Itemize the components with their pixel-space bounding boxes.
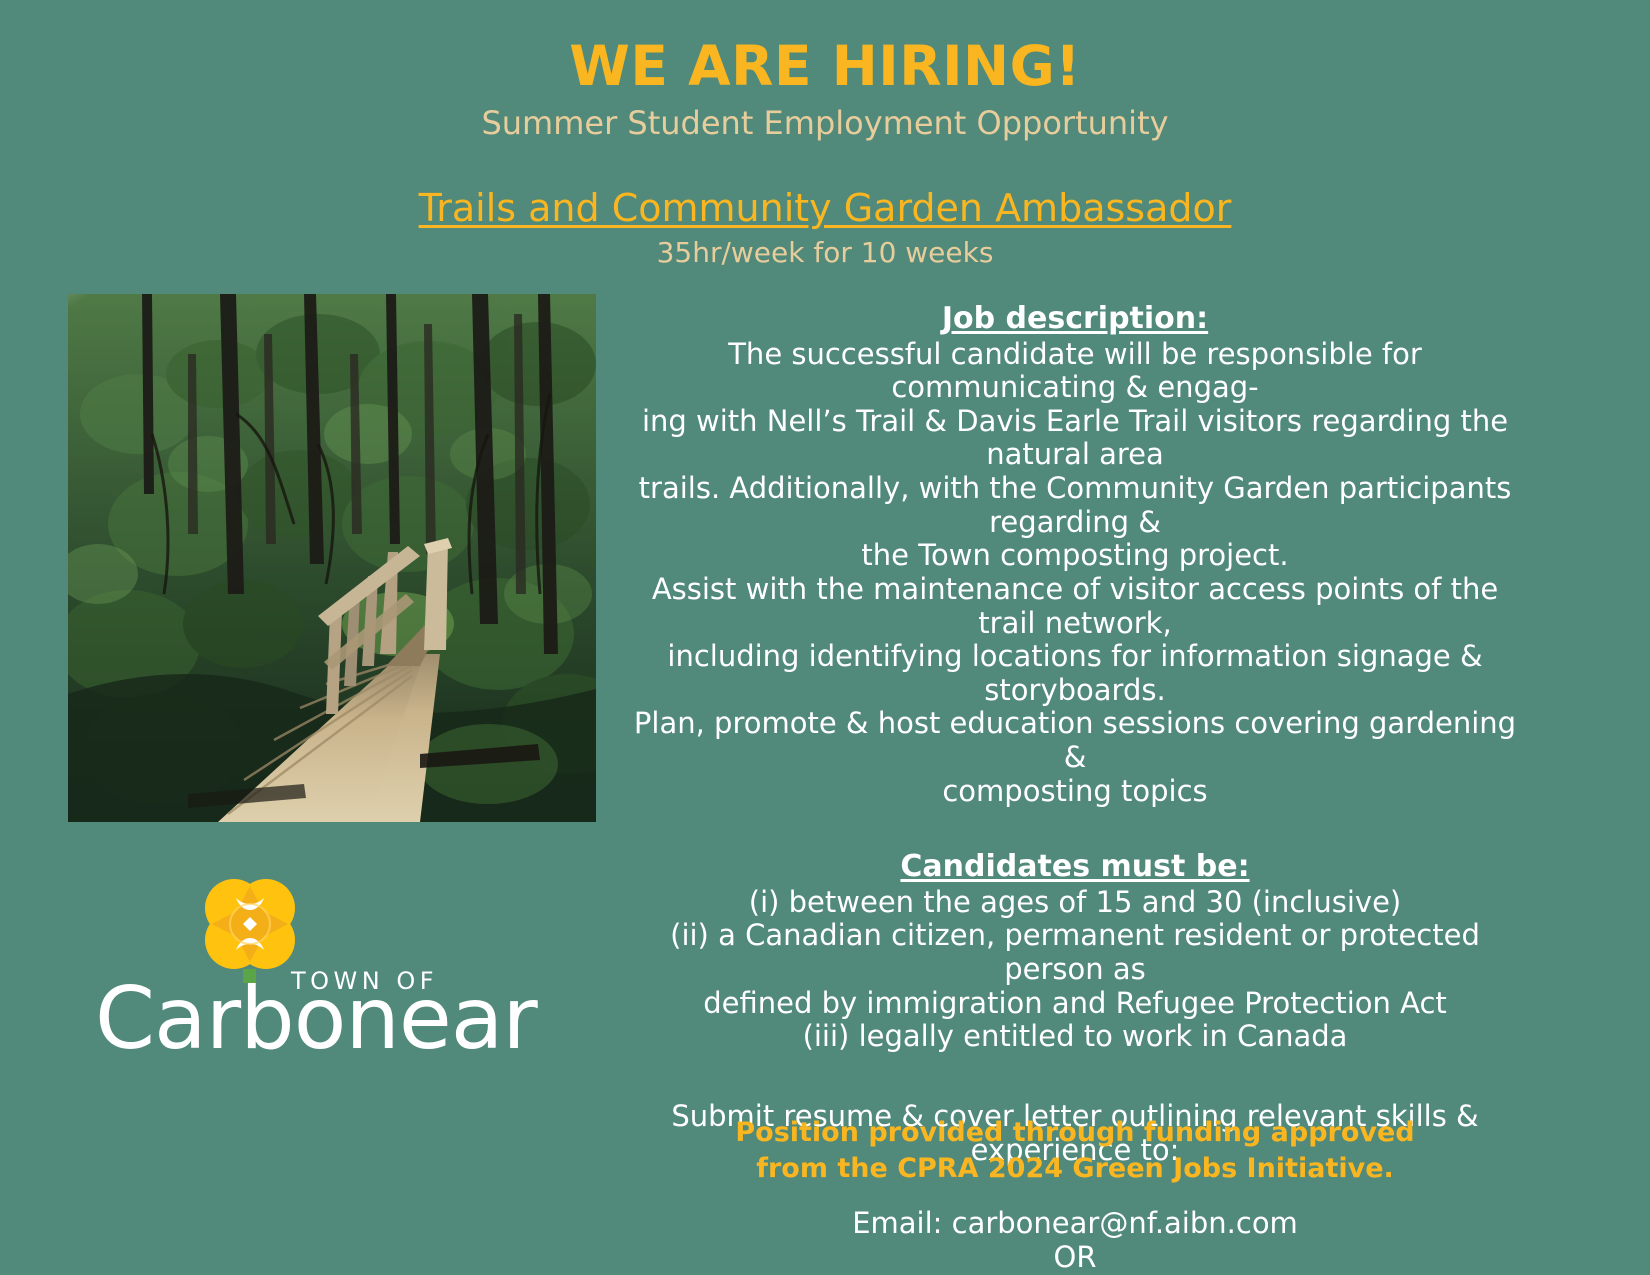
hiring-subtitle: Summer Student Employment Opportunity (0, 96, 1650, 141)
job-posting-poster: WE ARE HIRING! Summer Student Employment… (0, 0, 1650, 1275)
job-description-line: ing with Nell’s Trail & Davis Earle Trai… (625, 405, 1525, 472)
candidates-line: (ii) a Canadian citizen, permanent resid… (625, 919, 1525, 986)
poster-header: WE ARE HIRING! Summer Student Employment… (0, 0, 1650, 269)
funding-footer-line-1: Position provided through funding approv… (625, 1115, 1525, 1151)
town-of-carbonear-logo: TOWN OF Carbonear (95, 872, 565, 1067)
hiring-headline: WE ARE HIRING! (0, 0, 1650, 96)
funding-footer: Position provided through funding approv… (625, 1115, 1525, 1186)
job-hours: 35hr/week for 10 weeks (0, 230, 1650, 269)
funding-footer-line-2: from the CPRA 2024 Green Jobs Initiative… (625, 1151, 1525, 1187)
job-description-line: The successful candidate will be respons… (625, 338, 1525, 405)
submission-or: OR (625, 1241, 1525, 1275)
job-description-line: the Town composting project. (625, 539, 1525, 573)
logo-wordmark: Carbonear (95, 976, 537, 1062)
job-description-line: Assist with the maintenance of visitor a… (625, 573, 1525, 640)
job-description-line: Plan, promote & host education sessions … (625, 707, 1525, 774)
trail-photo (68, 294, 596, 822)
job-description-line: trails. Additionally, with the Community… (625, 472, 1525, 539)
job-description-line: composting topics (625, 775, 1525, 809)
candidates-heading: Candidates must be: (625, 848, 1525, 886)
candidates-line: defined by immigration and Refugee Prote… (625, 987, 1525, 1021)
submission-email[interactable]: Email: carbonear@nf.aibn.com (625, 1207, 1525, 1241)
job-description-line: including identifying locations for info… (625, 640, 1525, 707)
job-title: Trails and Community Garden Ambassador (0, 141, 1650, 230)
candidates-line: (iii) legally entitled to work in Canada (625, 1020, 1525, 1054)
candidates-line: (i) between the ages of 15 and 30 (inclu… (625, 886, 1525, 920)
carbonear-flower-icon (198, 872, 302, 976)
spacer (625, 808, 1525, 848)
job-description-heading: Job description: (625, 300, 1525, 338)
spacer (625, 1054, 1525, 1100)
trail-photo-illustration (68, 294, 596, 822)
